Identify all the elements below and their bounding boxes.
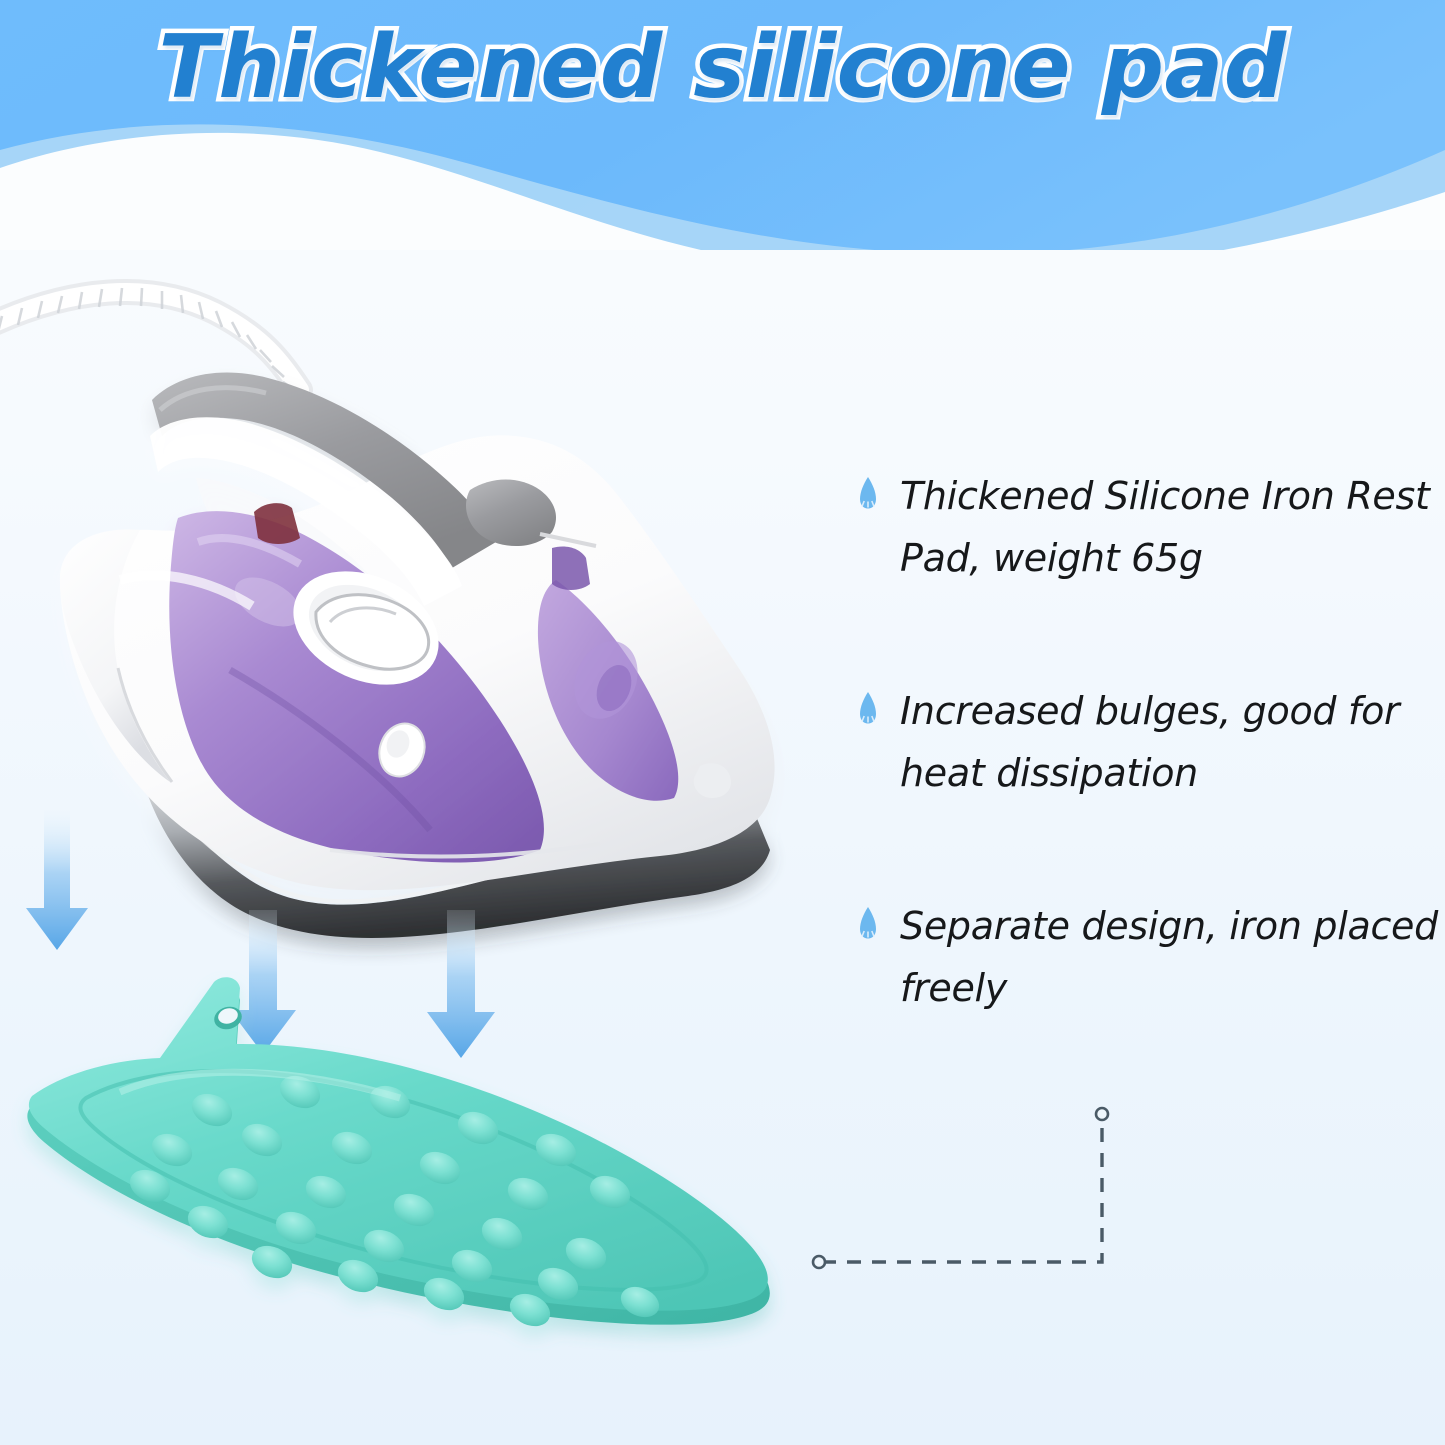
list-item-label: Increased bulges, good for heat dissipat… bbox=[900, 681, 1438, 804]
iron-drop-icon bbox=[858, 476, 878, 510]
list-item-label: Separate design, iron placed freely bbox=[900, 896, 1438, 1019]
header-banner: Thickened silicone pad bbox=[0, 0, 1445, 250]
downward-arrow bbox=[26, 810, 88, 950]
iron-drop-icon bbox=[858, 691, 878, 725]
dashed-leader-line bbox=[790, 1090, 1140, 1270]
iron-drop-icon bbox=[858, 906, 878, 940]
product-infographic: Thickened silicone pad bbox=[0, 0, 1445, 1445]
pad-top-face bbox=[29, 977, 768, 1310]
downward-arrow bbox=[230, 910, 296, 1054]
feature-list: Thickened Silicone Iron Rest Pad, weight… bbox=[858, 466, 1438, 1019]
list-item-label: Thickened Silicone Iron Rest Pad, weight… bbox=[900, 466, 1438, 589]
steam-iron bbox=[60, 373, 775, 938]
leader-endpoint-top bbox=[1096, 1108, 1108, 1120]
iron-indicator-light bbox=[254, 503, 300, 544]
list-item: Increased bulges, good for heat dissipat… bbox=[858, 681, 1438, 804]
silicone-iron-rest-pad bbox=[27, 977, 769, 1332]
leader-path bbox=[822, 1120, 1102, 1262]
list-item: Separate design, iron placed freely bbox=[858, 896, 1438, 1019]
list-item: Thickened Silicone Iron Rest Pad, weight… bbox=[858, 466, 1438, 589]
page-title: Thickened silicone pad bbox=[0, 16, 1445, 118]
leader-endpoint-left bbox=[813, 1256, 825, 1268]
product-illustration bbox=[0, 250, 860, 1445]
